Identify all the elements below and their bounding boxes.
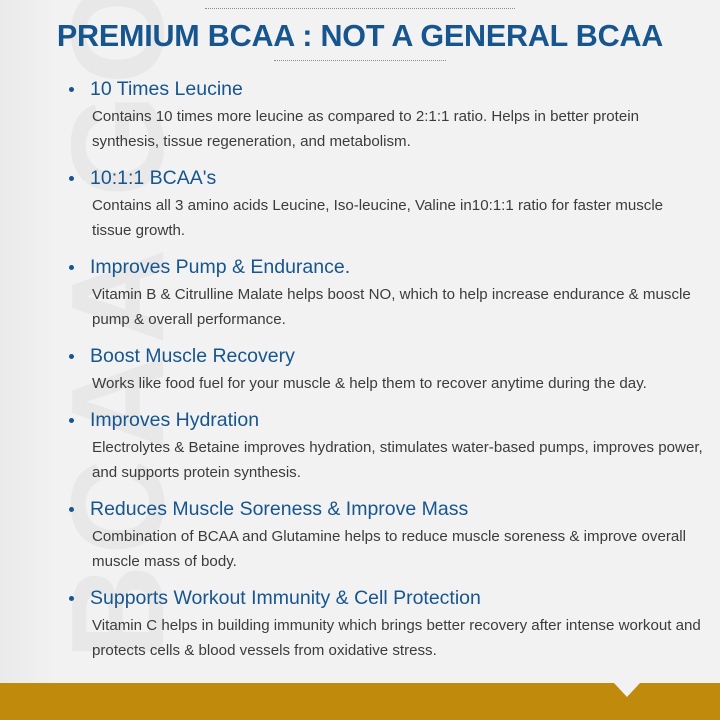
header: PREMIUM BCAA : NOT A GENERAL BCAA [0, 8, 720, 61]
product-info-panel: BCAA GOLD PREMIUM BCAA : NOT A GENERAL B… [0, 0, 720, 720]
list-item: 10 Times Leucine Contains 10 times more … [62, 76, 710, 154]
bullet-dot-icon [69, 596, 74, 601]
feature-title: Improves Hydration [90, 407, 710, 433]
list-item: Boost Muscle Recovery Works like food fu… [62, 343, 710, 396]
feature-body: Electrolytes & Betaine improves hydratio… [90, 435, 704, 485]
dotted-rule-top-icon [205, 8, 515, 9]
dotted-rule-bottom-icon [274, 60, 446, 61]
feature-title: Supports Workout Immunity & Cell Protect… [90, 585, 710, 611]
feature-title: Improves Pump & Endurance. [90, 254, 710, 280]
bullet-dot-icon [69, 265, 74, 270]
bullet-dot-icon [69, 354, 74, 359]
list-item: Improves Hydration Electrolytes & Betain… [62, 407, 710, 485]
feature-body: Contains 10 times more leucine as compar… [90, 104, 704, 154]
feature-body: Works like food fuel for your muscle & h… [90, 371, 704, 396]
feature-list: 10 Times Leucine Contains 10 times more … [62, 76, 710, 663]
bullet-dot-icon [69, 507, 74, 512]
bullet-dot-icon [69, 418, 74, 423]
page-title: PREMIUM BCAA : NOT A GENERAL BCAA [0, 18, 720, 54]
feature-body: Contains all 3 amino acids Leucine, Iso-… [90, 193, 704, 243]
feature-title: 10:1:1 BCAA's [90, 165, 710, 191]
feature-title: Reduces Muscle Soreness & Improve Mass [90, 496, 710, 522]
list-item: Supports Workout Immunity & Cell Protect… [62, 585, 710, 663]
feature-title: 10 Times Leucine [90, 76, 710, 102]
bullet-dot-icon [69, 176, 74, 181]
feature-title: Boost Muscle Recovery [90, 343, 710, 369]
feature-body: Combination of BCAA and Glutamine helps … [90, 524, 704, 574]
footer-gold-band [0, 683, 720, 720]
feature-body: Vitamin C helps in building immunity whi… [90, 613, 704, 663]
list-item: 10:1:1 BCAA's Contains all 3 amino acids… [62, 165, 710, 243]
left-edge-shading [0, 0, 56, 720]
feature-body: Vitamin B & Citrulline Malate helps boos… [90, 282, 704, 332]
bullet-dot-icon [69, 87, 74, 92]
footer-notch-icon [614, 683, 640, 697]
list-item: Reduces Muscle Soreness & Improve Mass C… [62, 496, 710, 574]
list-item: Improves Pump & Endurance. Vitamin B & C… [62, 254, 710, 332]
